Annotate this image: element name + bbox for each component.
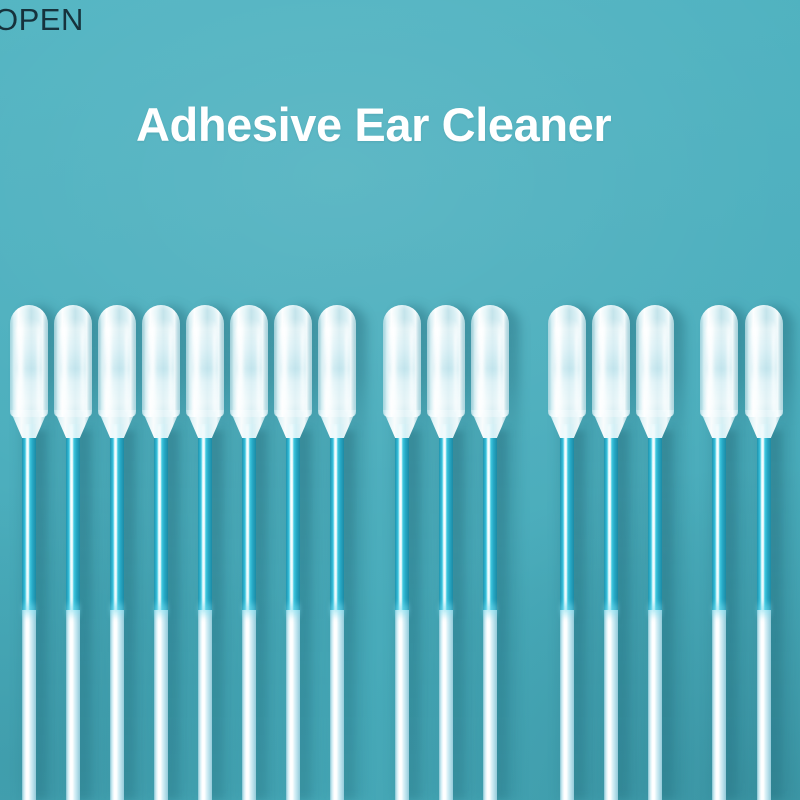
- swab-handle-color-blend: [110, 600, 124, 620]
- swab-handle-white-highlight: [652, 612, 655, 800]
- swab-handle-cyan: [757, 424, 771, 614]
- swab-handle-white-highlight: [114, 612, 117, 800]
- swab-handle-cyan: [110, 424, 124, 614]
- swab-handle-white: [330, 610, 344, 800]
- swab-tip-highlight: [708, 312, 713, 416]
- swab-handle-color-blend: [198, 600, 212, 620]
- page-title: Adhesive Ear Cleaner: [136, 100, 611, 149]
- swab-handle-color-blend: [604, 600, 618, 620]
- swab-tip-highlight-secondary: [663, 320, 666, 412]
- swab-handle-cyan: [154, 424, 168, 614]
- swab-handle-color-blend: [330, 600, 344, 620]
- swab-handle-white: [483, 610, 497, 800]
- swab-tip-highlight-secondary: [619, 320, 622, 412]
- swab-tip-highlight: [150, 312, 155, 416]
- swab-handle-white: [395, 610, 409, 800]
- swab-handle-white: [22, 610, 36, 800]
- watermark-text: OPEN: [0, 4, 84, 35]
- swab-handle-color-blend: [483, 600, 497, 620]
- swab-handle-cyan-highlight: [246, 426, 249, 612]
- swab-handle-white: [110, 610, 124, 800]
- swab-handle-cyan: [604, 424, 618, 614]
- swab-handle-cyan: [395, 424, 409, 614]
- swab-handle-white: [648, 610, 662, 800]
- swab-handle-white-highlight: [443, 612, 446, 800]
- swab-tip-highlight: [194, 312, 199, 416]
- swab-tip-highlight-secondary: [125, 320, 128, 412]
- swab-handle-white: [439, 610, 453, 800]
- swab-handle-white: [242, 610, 256, 800]
- swab-handle-white-highlight: [290, 612, 293, 800]
- swab-tip-highlight: [18, 312, 23, 416]
- swab-handle-white-highlight: [399, 612, 402, 800]
- swab-tip-highlight-secondary: [727, 320, 730, 412]
- swab-handle-cyan-highlight: [158, 426, 161, 612]
- swab-handle-white-highlight: [761, 612, 764, 800]
- swab-handle-cyan: [560, 424, 574, 614]
- swab-tip-highlight: [753, 312, 758, 416]
- swab-handle-cyan-highlight: [716, 426, 719, 612]
- swab-handle-cyan-highlight: [487, 426, 490, 612]
- swab-handle-cyan: [439, 424, 453, 614]
- swab-handle-color-blend: [286, 600, 300, 620]
- swab-tip-highlight: [556, 312, 561, 416]
- swab-handle-cyan: [483, 424, 497, 614]
- swab-handle-cyan: [648, 424, 662, 614]
- swab-tip-highlight-secondary: [169, 320, 172, 412]
- swab-handle-white-highlight: [246, 612, 249, 800]
- swab-handle-cyan-highlight: [334, 426, 337, 612]
- swab-handle-color-blend: [648, 600, 662, 620]
- swab-handle-cyan-highlight: [290, 426, 293, 612]
- product-image-canvas: Adhesive Ear Cleaner OPEN: [0, 0, 800, 800]
- swab-handle-cyan-highlight: [761, 426, 764, 612]
- swab-tip-highlight-secondary: [213, 320, 216, 412]
- swab-handle-white-highlight: [334, 612, 337, 800]
- swab-handle-color-blend: [395, 600, 409, 620]
- swab-handle-color-blend: [757, 600, 771, 620]
- swab-handle-white: [286, 610, 300, 800]
- swab-handle-cyan: [286, 424, 300, 614]
- swab-handle-color-blend: [22, 600, 36, 620]
- swab-handle-cyan-highlight: [114, 426, 117, 612]
- swab-handle-cyan: [198, 424, 212, 614]
- swab-handle-color-blend: [242, 600, 256, 620]
- swab-handle-white-highlight: [26, 612, 29, 800]
- swab-tip-highlight-secondary: [498, 320, 501, 412]
- swab-handle-cyan-highlight: [202, 426, 205, 612]
- swab-handle-white-highlight: [202, 612, 205, 800]
- swab-handle-white: [712, 610, 726, 800]
- swab-tip-highlight: [391, 312, 396, 416]
- swab-handle-white: [604, 610, 618, 800]
- swab-handle-color-blend: [154, 600, 168, 620]
- swab-tip-highlight: [600, 312, 605, 416]
- swab-handle-cyan: [242, 424, 256, 614]
- swab-handle-white: [757, 610, 771, 800]
- swab-handle-cyan-highlight: [652, 426, 655, 612]
- swab-handle-cyan-highlight: [70, 426, 73, 612]
- swab-tip-highlight: [435, 312, 440, 416]
- swab-handle-color-blend: [560, 600, 574, 620]
- swab-tip-highlight: [62, 312, 67, 416]
- swab-tip-highlight-secondary: [257, 320, 260, 412]
- swab-tip-highlight: [282, 312, 287, 416]
- swab-tip-highlight-secondary: [37, 320, 40, 412]
- swab-tip-highlight-secondary: [81, 320, 84, 412]
- swab-tip-highlight-secondary: [575, 320, 578, 412]
- swab-tip-highlight: [479, 312, 484, 416]
- swab-tip-highlight-secondary: [772, 320, 775, 412]
- swab-handle-cyan: [712, 424, 726, 614]
- swab-tip-highlight: [644, 312, 649, 416]
- swab-handle-white: [154, 610, 168, 800]
- swab-handle-cyan-highlight: [564, 426, 567, 612]
- swab-handle-color-blend: [66, 600, 80, 620]
- swab-handle-white: [66, 610, 80, 800]
- swab-handle-cyan-highlight: [399, 426, 402, 612]
- swab-tip-highlight-secondary: [345, 320, 348, 412]
- swab-handle-cyan: [66, 424, 80, 614]
- swab-handle-cyan-highlight: [26, 426, 29, 612]
- swab-handle-cyan: [330, 424, 344, 614]
- swab-handle-white-highlight: [70, 612, 73, 800]
- swab-tip-highlight: [326, 312, 331, 416]
- swab-handle-color-blend: [439, 600, 453, 620]
- swab-tip-highlight: [238, 312, 243, 416]
- swab-handle-cyan-highlight: [443, 426, 446, 612]
- swab-handle-white-highlight: [716, 612, 719, 800]
- swab-tip-highlight-secondary: [301, 320, 304, 412]
- swab-handle-cyan: [22, 424, 36, 614]
- swab-tip-highlight-secondary: [410, 320, 413, 412]
- swab-handle-white: [198, 610, 212, 800]
- swab-handle-white-highlight: [158, 612, 161, 800]
- swab-handle-white-highlight: [608, 612, 611, 800]
- swab-handle-color-blend: [712, 600, 726, 620]
- swab-handle-white: [560, 610, 574, 800]
- swab-handle-cyan-highlight: [608, 426, 611, 612]
- swab-handle-white-highlight: [564, 612, 567, 800]
- swab-tip-highlight-secondary: [454, 320, 457, 412]
- swab-handle-white-highlight: [487, 612, 490, 800]
- swab-tip-highlight: [106, 312, 111, 416]
